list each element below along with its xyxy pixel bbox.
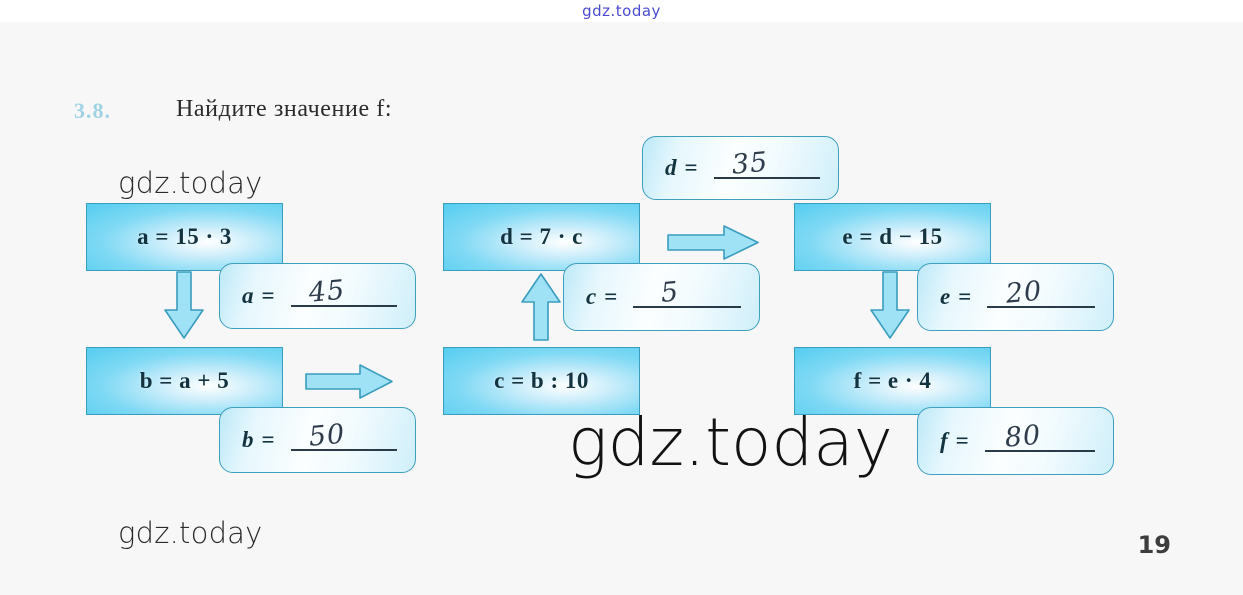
answer-d-rule: [714, 177, 820, 179]
formula-f-text: f = e · 4: [854, 368, 932, 394]
answer-e-label: e: [918, 284, 950, 310]
answer-f-rule: [985, 450, 1095, 452]
answer-c-equals: =: [596, 284, 617, 310]
answer-c-value: 5: [660, 276, 681, 308]
formula-box-f: f = e · 4: [794, 347, 991, 415]
formula-e-text: e = d − 15: [842, 224, 942, 250]
formula-a-text: a = 15 · 3: [137, 224, 232, 250]
answer-f-value: 80: [1003, 420, 1042, 454]
formula-box-c: c = b : 10: [443, 347, 640, 415]
formula-box-b: b = a + 5: [86, 347, 283, 415]
answer-d-value: 35: [731, 147, 770, 181]
arrow-e-to-f: [869, 272, 911, 340]
formula-b-text: b = a + 5: [140, 368, 230, 394]
answer-b-field[interactable]: 50: [287, 408, 399, 472]
answer-e-equals: =: [950, 284, 971, 310]
answer-box-c[interactable]: c = 5: [563, 263, 760, 331]
page-number: 19: [1138, 531, 1171, 559]
answer-b-label: b: [220, 427, 254, 453]
arrow-d-to-e: [668, 225, 760, 261]
exercise-number: 3.8.: [74, 98, 111, 124]
exercise-prompt: Найдите значение f:: [176, 96, 392, 123]
answer-a-equals: =: [254, 283, 275, 309]
answer-b-equals: =: [254, 427, 275, 453]
formula-box-d: d = 7 · c: [443, 203, 640, 271]
answer-c-label: c: [564, 284, 596, 310]
formula-c-text: c = b : 10: [494, 368, 589, 394]
answer-c-rule: [633, 306, 741, 308]
answer-f-label: f: [918, 428, 948, 454]
worksheet-page: gdz.today gdz.today gdz.today gdz.today …: [0, 0, 1243, 595]
watermark-top: gdz.today: [0, 2, 1243, 20]
watermark-center-large: gdz.today: [568, 404, 893, 481]
watermark-upper-left: gdz.today: [118, 166, 263, 200]
answer-d-equals: =: [677, 155, 698, 181]
watermark-lower-left: gdz.today: [118, 516, 263, 550]
answer-e-field[interactable]: 20: [983, 264, 1097, 330]
arrow-b-to-c: [306, 364, 394, 400]
answer-b-value: 50: [308, 419, 347, 453]
answer-f-field[interactable]: 80: [981, 408, 1097, 474]
answer-a-label: a: [220, 283, 254, 309]
arrow-a-to-b: [163, 272, 205, 340]
answer-e-value: 20: [1005, 276, 1044, 310]
answer-box-b[interactable]: b = 50: [219, 407, 416, 473]
arrow-c-to-d: [522, 272, 562, 342]
answer-a-rule: [291, 305, 397, 307]
answer-box-a[interactable]: a = 45: [219, 263, 416, 329]
answer-a-value: 45: [308, 275, 347, 309]
formula-box-e: e = d − 15: [794, 203, 991, 271]
answer-b-rule: [291, 449, 397, 451]
answer-c-field[interactable]: 5: [629, 264, 743, 330]
answer-e-rule: [987, 306, 1095, 308]
answer-box-f[interactable]: f = 80: [917, 407, 1114, 475]
answer-box-d[interactable]: d = 35: [642, 136, 839, 200]
answer-box-e[interactable]: e = 20: [917, 263, 1114, 331]
answer-a-field[interactable]: 45: [287, 264, 399, 328]
answer-f-equals: =: [948, 428, 969, 454]
formula-box-a: a = 15 · 3: [86, 203, 283, 271]
answer-d-field[interactable]: 35: [710, 137, 822, 199]
formula-d-text: d = 7 · c: [500, 224, 583, 250]
answer-d-label: d: [643, 155, 677, 181]
